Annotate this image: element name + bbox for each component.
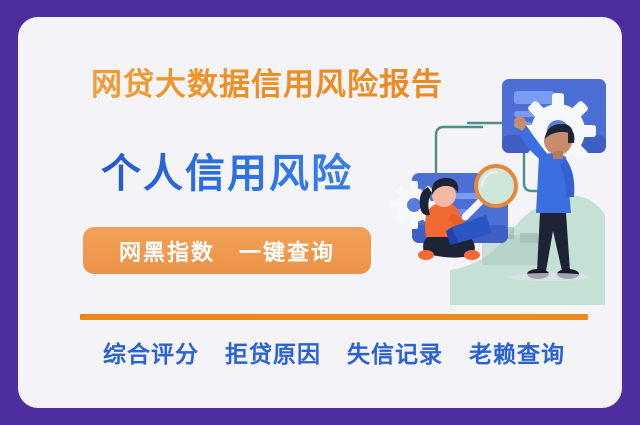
ground-shadow xyxy=(510,273,590,281)
credit-report-illustration xyxy=(390,65,622,305)
section-divider xyxy=(80,314,588,320)
feature-keyword-row: 综合评分 拒贷原因 失信记录 老赖查询 xyxy=(80,335,588,369)
hill-block-3 xyxy=(520,233,538,243)
feature-item-score[interactable]: 综合评分 xyxy=(103,335,199,369)
promo-banner: 网贷大数据信用风险报告 个人信用风险 网黑指数 一键查询 综合评分 拒贷原因 失… xyxy=(0,0,640,425)
feature-item-default-record[interactable]: 失信记录 xyxy=(347,335,443,369)
feature-item-debtor-query[interactable]: 老赖查询 xyxy=(469,335,565,369)
query-button[interactable]: 网黑指数 一键查询 xyxy=(83,227,371,274)
subtitle: 个人信用风险 xyxy=(52,141,402,199)
feature-item-reject-reason[interactable]: 拒贷原因 xyxy=(225,335,321,369)
banner-inner-panel: 网贷大数据信用风险报告 个人信用风险 网黑指数 一键查询 综合评分 拒贷原因 失… xyxy=(18,17,622,408)
